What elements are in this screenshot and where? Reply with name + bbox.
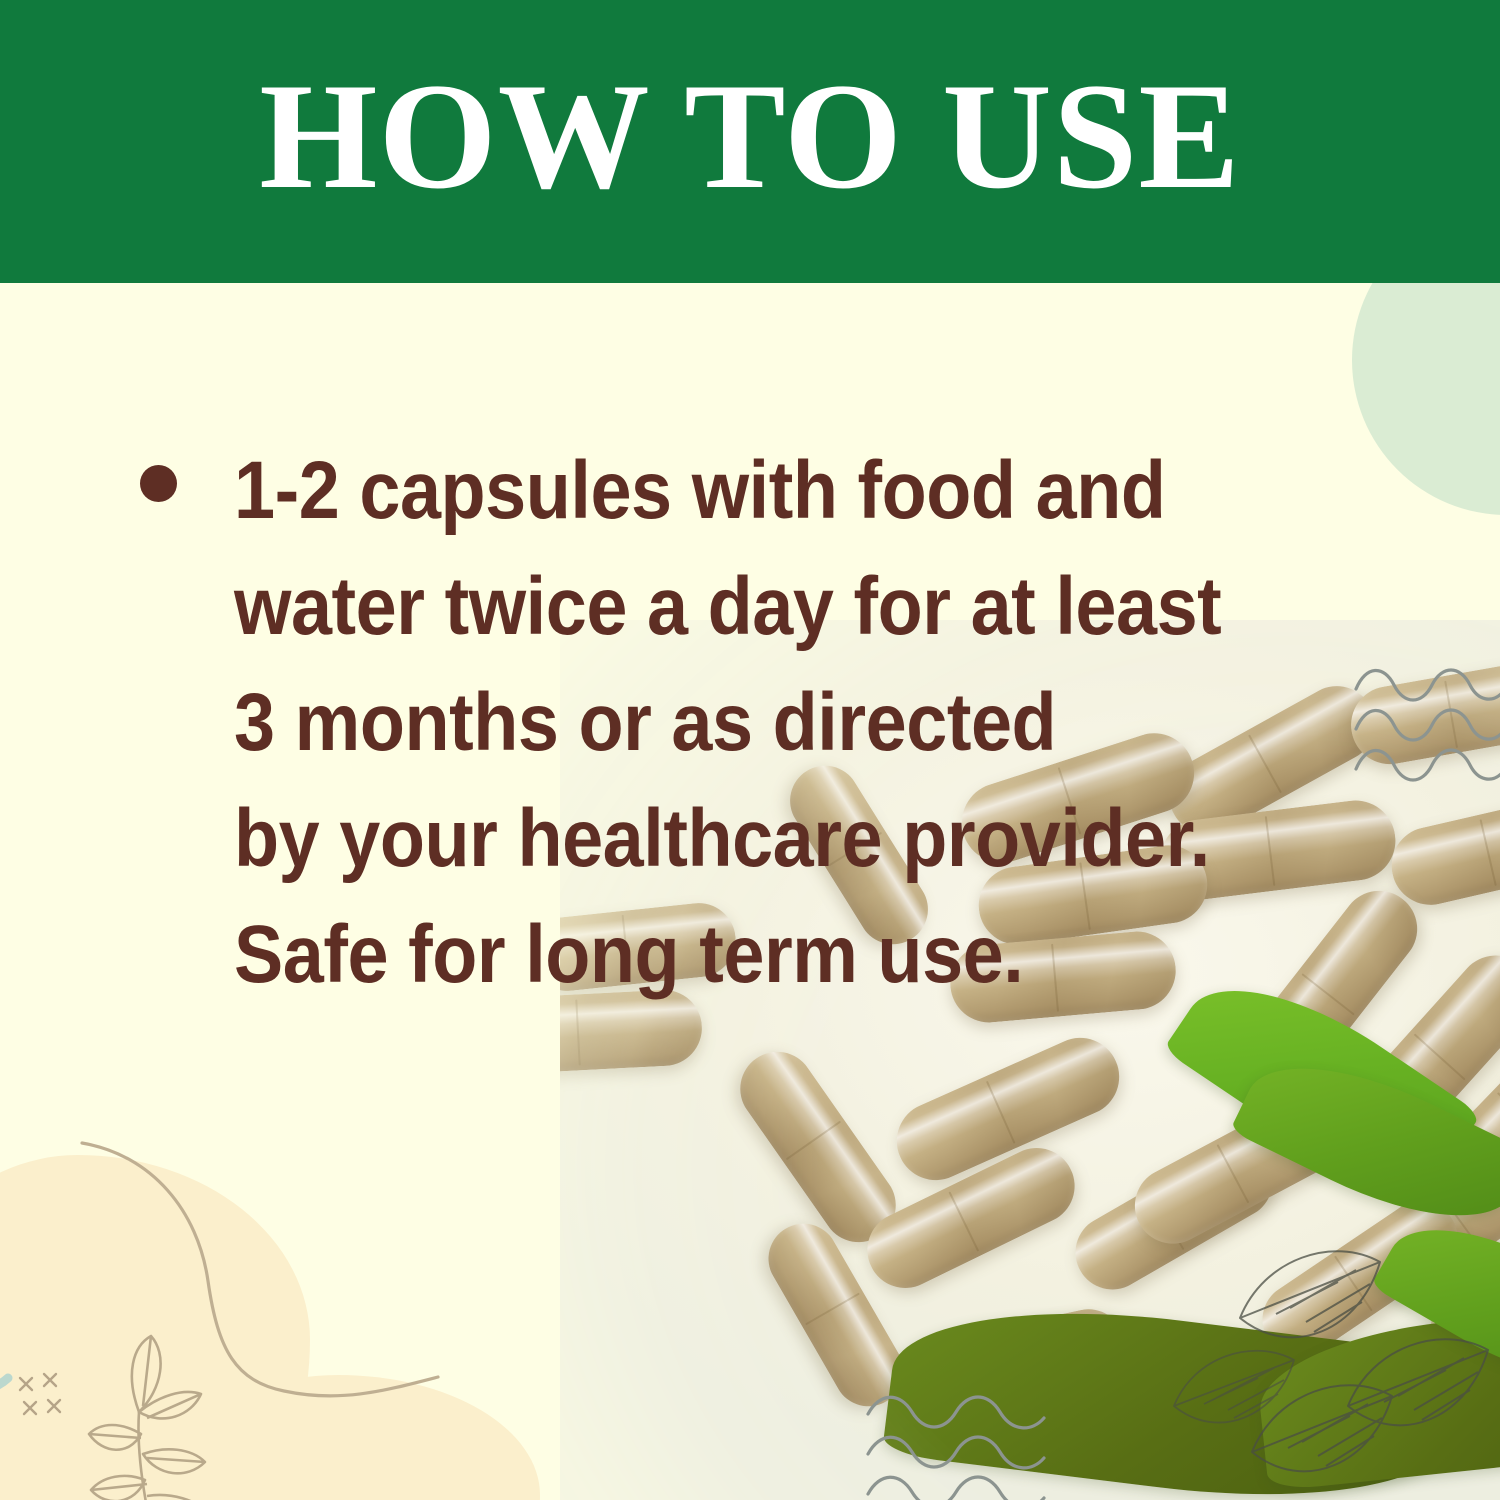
bullet-dot-icon — [140, 465, 177, 502]
instruction-bullet-item: 1-2 capsules with food and water twice a… — [140, 433, 1331, 1013]
poster-canvas: 1-2 capsules with food and water twice a… — [0, 0, 1500, 1500]
header-band: HOW TO USE — [0, 0, 1500, 283]
instruction-text: 1-2 capsules with food and water twice a… — [234, 433, 1221, 1013]
page-title: HOW TO USE — [259, 60, 1241, 212]
instructions-section: 1-2 capsules with food and water twice a… — [0, 283, 1500, 1500]
